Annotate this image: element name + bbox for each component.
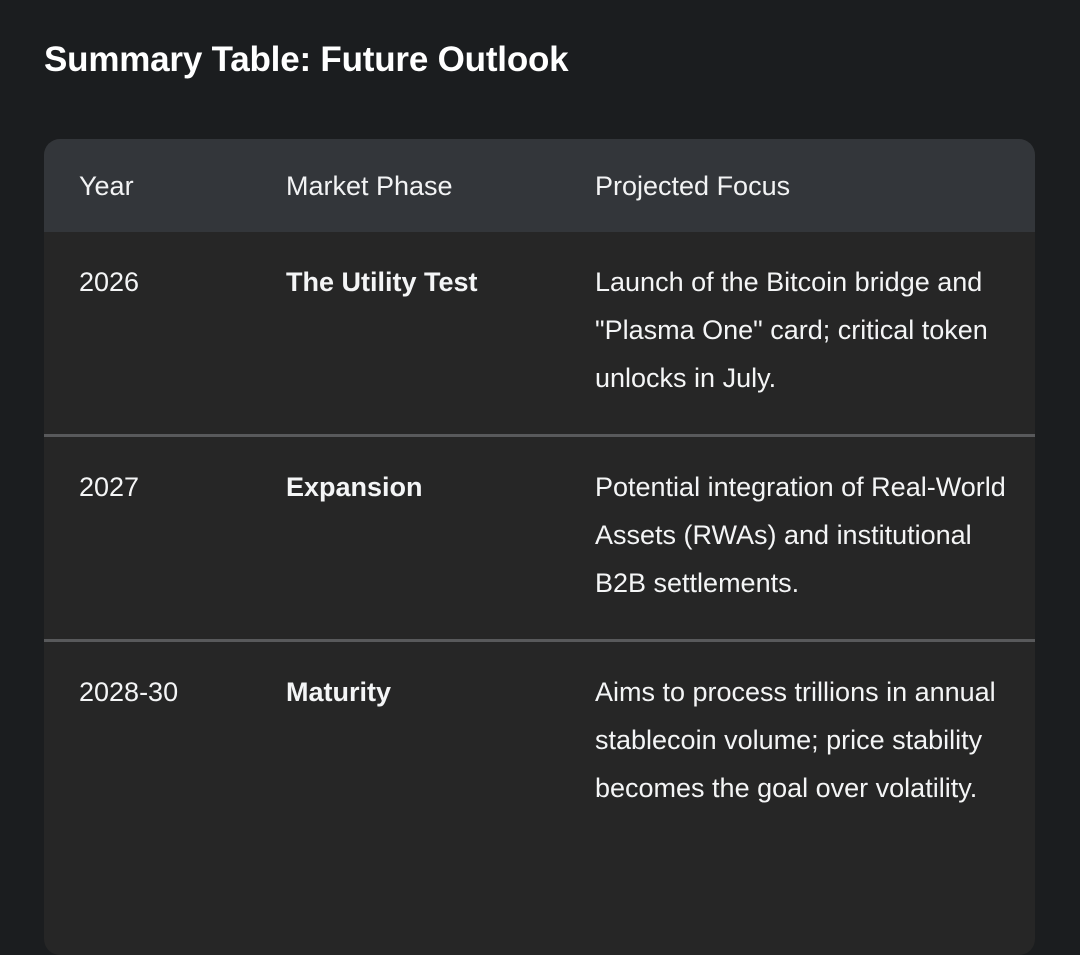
column-header-year[interactable]: Year [44,139,251,232]
table-row: 2027 Expansion Potential integration of … [44,436,1035,641]
cell-market-phase: Expansion [251,436,560,641]
cell-market-phase: The Utility Test [251,232,560,436]
summary-table-card: Year Market Phase Projected Focus 2026 T… [44,139,1035,955]
cell-projected-focus: Launch of the Bitcoin bridge and "Plasma… [560,232,1035,436]
cell-projected-focus: Potential integration of Real-World Asse… [560,436,1035,641]
summary-table: Year Market Phase Projected Focus 2026 T… [44,139,1035,844]
table-row: 2028-30 Maturity Aims to process trillio… [44,641,1035,845]
table-header: Year Market Phase Projected Focus [44,139,1035,232]
column-header-market-phase[interactable]: Market Phase [251,139,560,232]
cell-year: 2026 [44,232,251,436]
column-header-projected-focus[interactable]: Projected Focus [560,139,1035,232]
cell-year: 2028-30 [44,641,251,845]
cell-year: 2027 [44,436,251,641]
table-row: 2026 The Utility Test Launch of the Bitc… [44,232,1035,436]
table-header-row: Year Market Phase Projected Focus [44,139,1035,232]
page-root: Summary Table: Future Outlook Year Marke… [0,0,1080,955]
table-body: 2026 The Utility Test Launch of the Bitc… [44,232,1035,844]
page-title: Summary Table: Future Outlook [44,38,568,82]
cell-market-phase: Maturity [251,641,560,845]
cell-projected-focus: Aims to process trillions in annual stab… [560,641,1035,845]
